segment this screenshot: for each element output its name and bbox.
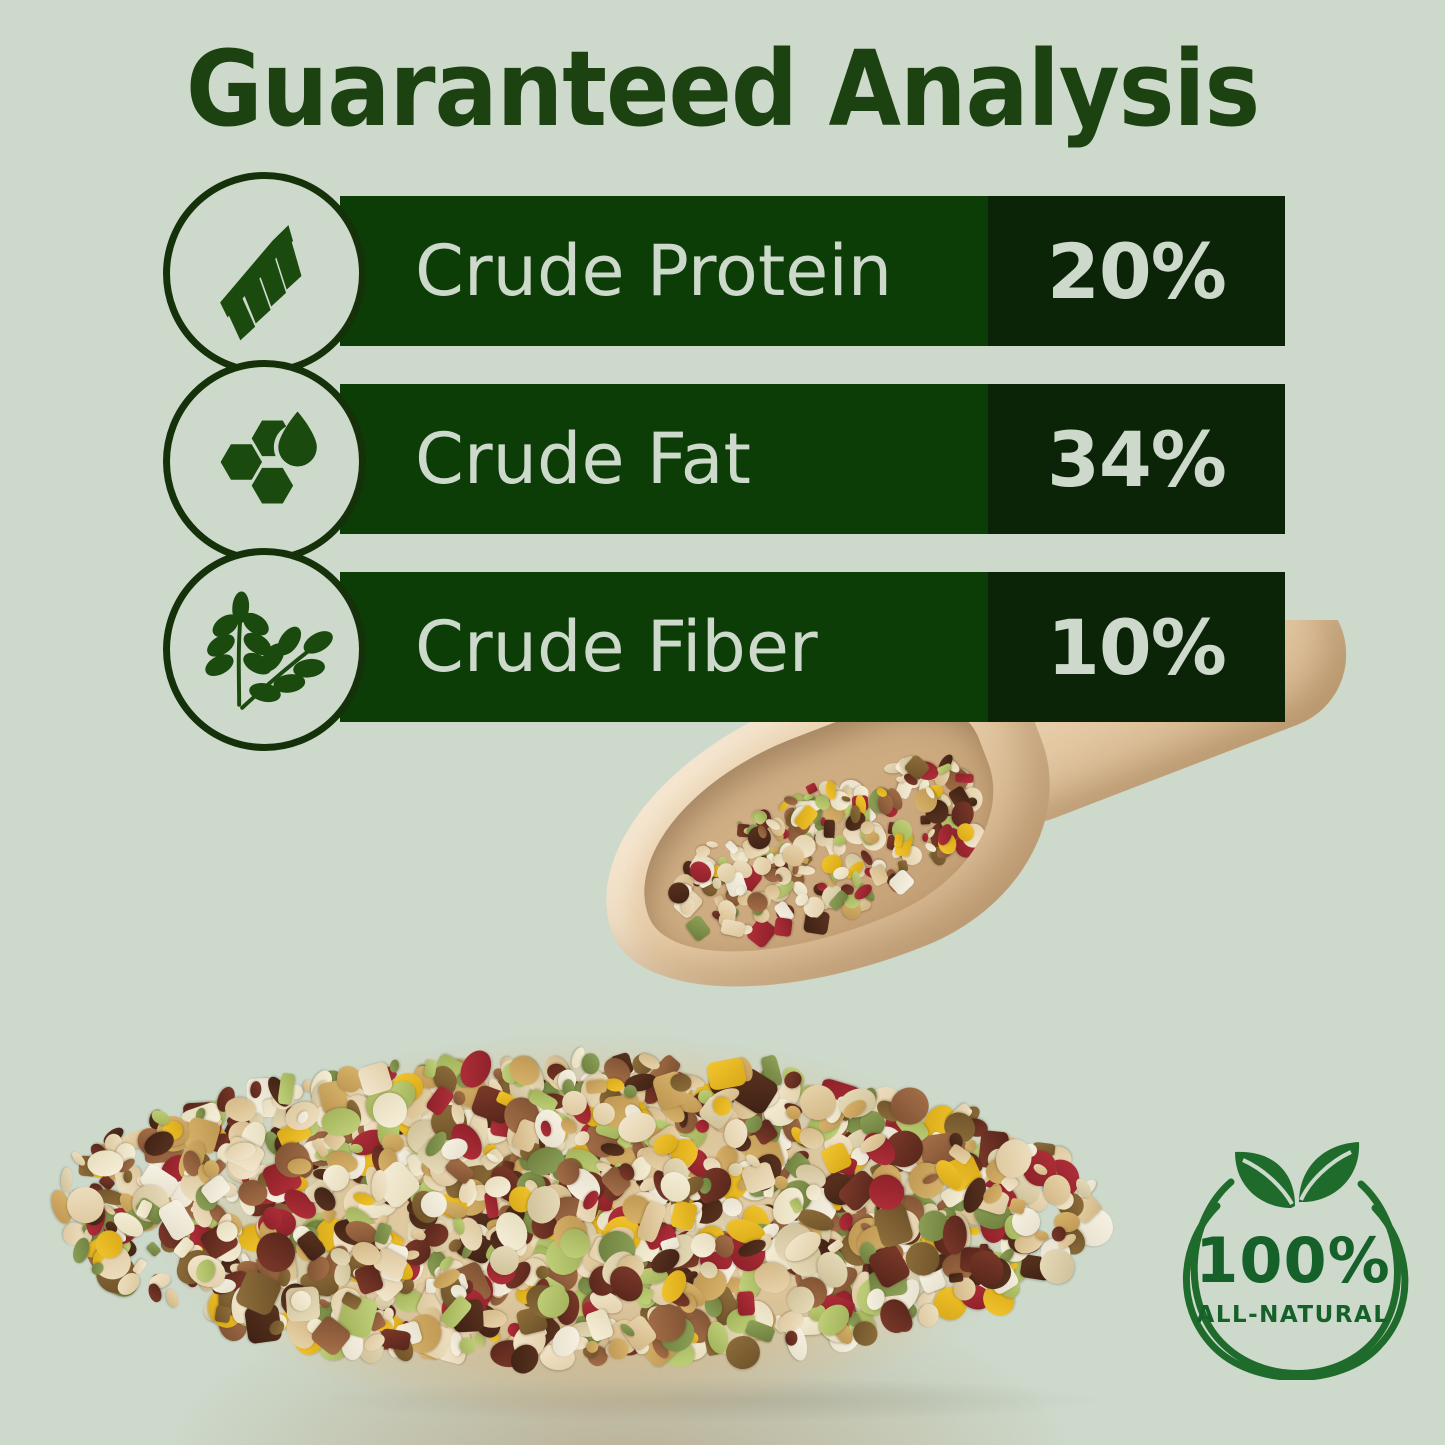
all-natural-badge: 100% ALL-NATURAL (1173, 1110, 1413, 1380)
poster-canvas: Guaranteed Analysis Crude Protein 20% (0, 0, 1445, 1445)
nutrient-value: 34% (988, 384, 1285, 534)
fat-icon-badge (163, 360, 366, 563)
protein-ribbon-icon (190, 199, 340, 349)
badge-caption: ALL-NATURAL (1173, 1302, 1413, 1328)
badge-percent: 100% (1173, 1230, 1413, 1292)
protein-icon-badge (163, 172, 366, 375)
table-row: Crude Protein 20% (340, 196, 1285, 346)
fiber-icon-badge (163, 548, 366, 751)
nutrient-label: Crude Fiber (415, 572, 818, 722)
nutrient-label: Crude Protein (415, 196, 892, 346)
nutrient-label: Crude Fat (415, 384, 751, 534)
fat-hexagon-droplet-icon (191, 388, 339, 536)
guaranteed-analysis-table: Crude Protein 20% Crude Fat 34% Crude Fi… (0, 0, 1445, 760)
nutrient-value: 10% (988, 572, 1285, 722)
table-row: Crude Fat 34% (340, 384, 1285, 534)
nutrient-value: 20% (988, 196, 1285, 346)
table-row: Crude Fiber 10% (340, 572, 1285, 722)
fiber-grain-leaf-icon (189, 574, 341, 726)
two-leaves-icon (1235, 1142, 1359, 1208)
